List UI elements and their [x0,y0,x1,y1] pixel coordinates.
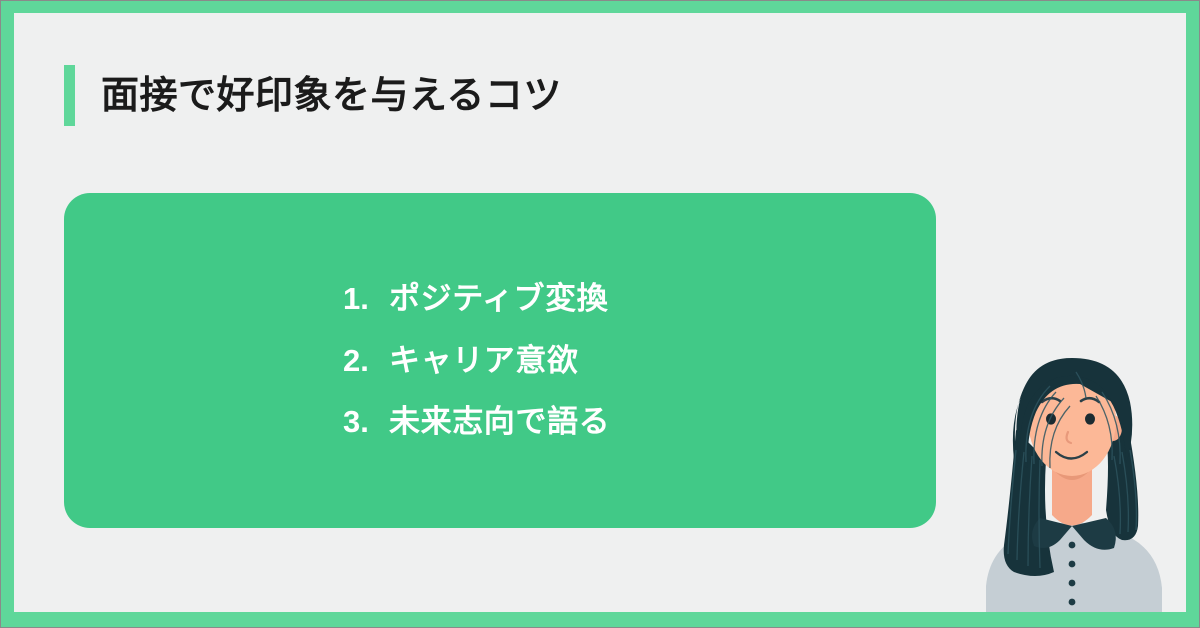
list-item: 3. 未来志向で語る [343,402,936,442]
eye-right [1085,413,1095,424]
tips-card: 1. ポジティブ変換 2. キャリア意欲 3. 未来志向で語る [64,193,936,528]
page-title: 面接で好印象を与えるコツ [64,65,562,126]
title-accent-bar [64,65,75,126]
blouse-button [1069,580,1076,587]
slide-canvas: 面接で好印象を与えるコツ 1. ポジティブ変換 2. キャリア意欲 3. 未来志… [0,0,1200,628]
list-item-label: ポジティブ変換 [389,279,608,319]
list-item-number: 3. [343,402,389,442]
list-item-label: キャリア意欲 [389,341,579,381]
list-item-number: 2. [343,341,389,381]
woman-figure-icon [980,340,1186,612]
slide-inner-surface: 面接で好印象を与えるコツ 1. ポジティブ変換 2. キャリア意欲 3. 未来志… [14,13,1186,612]
title-text: 面接で好印象を与えるコツ [101,77,562,115]
list-item: 1. ポジティブ変換 [343,279,936,319]
blouse-button [1069,561,1076,568]
blouse-button [1069,599,1076,606]
blouse-button [1069,542,1076,549]
list-item-number: 1. [343,279,389,319]
smiling-woman-illustration [980,340,1186,612]
list-item-label: 未来志向で語る [389,402,610,442]
eye-left [1046,413,1056,424]
list-item: 2. キャリア意欲 [343,341,936,381]
